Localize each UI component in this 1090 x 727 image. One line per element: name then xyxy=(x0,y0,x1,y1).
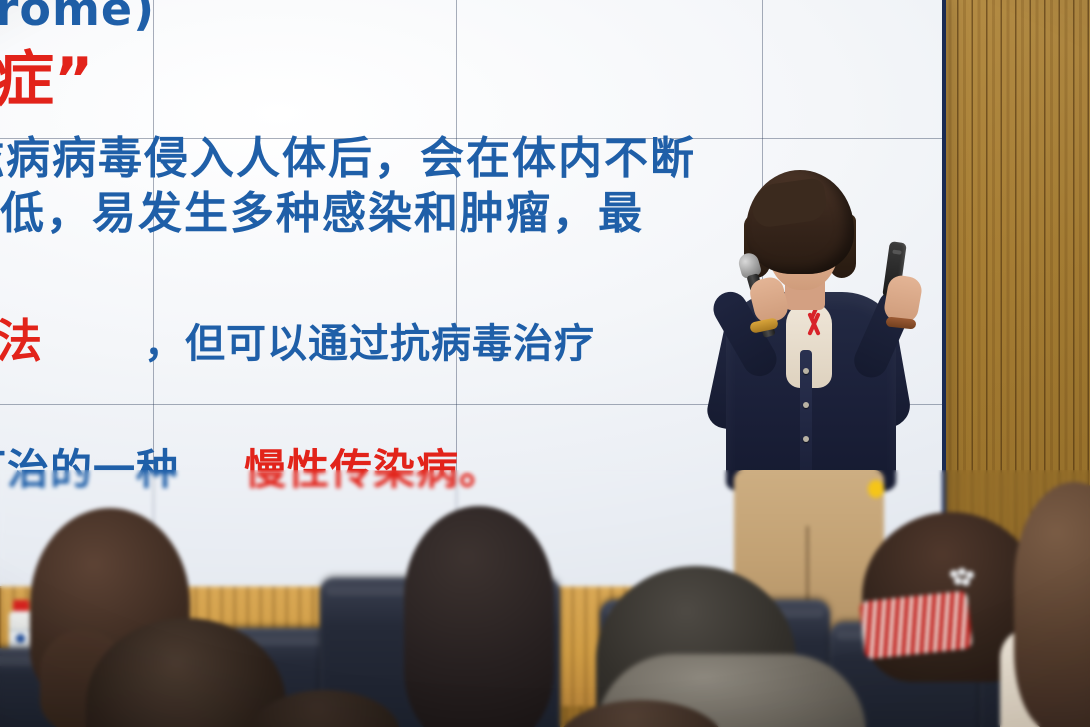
slide-body-line-3-red: 方法 xyxy=(0,318,42,364)
yellow-object xyxy=(868,480,884,498)
cardigan-button xyxy=(803,436,809,442)
slide-body-line-4-red: 慢性传染病。 xyxy=(244,449,502,491)
slide-body-line-2: 降低，易发生多种感染和肿瘤，最 xyxy=(0,192,644,236)
speaker-hair xyxy=(746,170,854,274)
cardigan-button xyxy=(803,368,809,374)
slide-english-subtitle: ndrome) xyxy=(0,0,155,32)
slide-body-line-1: 滋病病毒侵入人体后，会在体内不断 xyxy=(0,137,696,181)
lecture-hall-photo: ndrome) 合症” 滋病病毒侵入人体后，会在体内不断 降低，易发生多种感染和… xyxy=(0,0,1090,727)
slide-title: 合症” xyxy=(0,50,93,110)
slide-body-line-4-blue: 可治的一种 xyxy=(0,449,179,491)
pearl-hair-clip xyxy=(950,568,976,588)
red-ribbon-pin xyxy=(803,312,825,338)
cardigan-button xyxy=(803,402,809,408)
striped-scarf xyxy=(859,591,972,660)
slide-body-line-3-blue: ，但可以通过抗病毒治疗 xyxy=(144,324,595,364)
audience-head xyxy=(404,506,554,727)
